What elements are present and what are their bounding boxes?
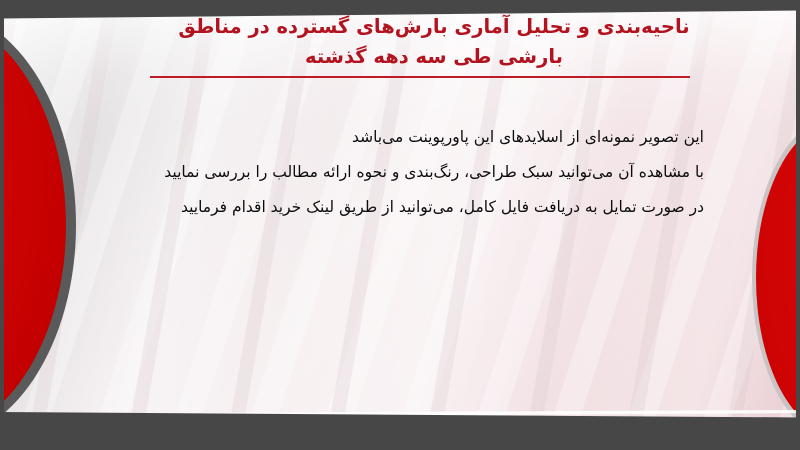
slide-title-line-1: ناحیه‌بندی و تحلیل آماری بارش‌های گسترده… <box>154 12 714 42</box>
title-underline-rule <box>150 76 690 78</box>
frame-top-bar <box>0 0 800 9</box>
slide-title: ناحیه‌بندی و تحلیل آماری بارش‌های گسترده… <box>154 12 714 72</box>
slide-body: این تصویر نمونه‌ای از اسلایدهای این پاور… <box>144 120 704 225</box>
frame-right-bar <box>796 0 800 450</box>
slide-title-line-2: بارشی طی سه دهه گذشته <box>154 42 714 72</box>
frame-bottom-bar <box>0 422 800 450</box>
slide-canvas: ناحیه‌بندی و تحلیل آماری بارش‌های گسترده… <box>0 0 800 450</box>
slide-body-line-3: در صورت تمایل به دریافت فایل کامل، می‌تو… <box>144 190 704 225</box>
slide-body-line-2: با مشاهده آن می‌توانید سبک طراحی، رنگ‌بن… <box>144 155 704 190</box>
frame-left-bar <box>0 0 4 450</box>
slide-body-line-1: این تصویر نمونه‌ای از اسلایدهای این پاور… <box>144 120 704 155</box>
